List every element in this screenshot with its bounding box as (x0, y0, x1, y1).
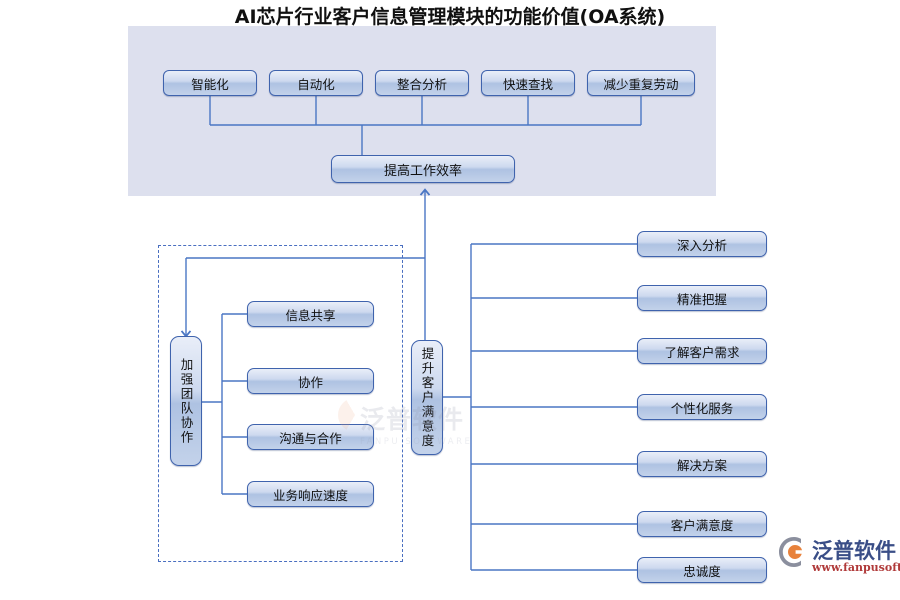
satisfaction-item-1[interactable]: 精准把握 (637, 285, 767, 311)
feature-node-0-label: 智能化 (191, 74, 229, 93)
diagram-canvas: AI芯片行业客户信息管理模块的功能价值(OA系统) (0, 0, 900, 600)
hub-node-teamwork[interactable]: 加强团队协作 (170, 336, 202, 466)
hub-node-satisfaction[interactable]: 提升客户满意度 (411, 340, 443, 455)
satisfaction-item-3-label: 个性化服务 (671, 398, 734, 417)
teamwork-item-3[interactable]: 业务响应速度 (247, 481, 374, 507)
satisfaction-item-5[interactable]: 客户满意度 (637, 511, 767, 537)
fanpu-logo-icon (778, 536, 810, 568)
feature-node-3-label: 快速查找 (503, 74, 553, 93)
satisfaction-item-6-label: 忠诚度 (683, 561, 721, 580)
satisfaction-item-6[interactable]: 忠诚度 (637, 557, 767, 583)
feature-node-0[interactable]: 智能化 (163, 70, 257, 96)
satisfaction-item-0-label: 深入分析 (677, 235, 727, 254)
outcome-node-efficiency-label: 提高工作效率 (384, 160, 462, 179)
satisfaction-item-0[interactable]: 深入分析 (637, 231, 767, 257)
brand-logo-url: www.fanpusoft.com (812, 561, 900, 574)
teamwork-item-1-label: 协作 (298, 372, 323, 391)
teamwork-item-2[interactable]: 沟通与合作 (247, 424, 374, 450)
satisfaction-item-2[interactable]: 了解客户需求 (637, 338, 767, 364)
feature-node-2-label: 整合分析 (397, 74, 447, 93)
feature-node-3[interactable]: 快速查找 (481, 70, 575, 96)
teamwork-item-2-label: 沟通与合作 (279, 428, 342, 447)
feature-node-1[interactable]: 自动化 (269, 70, 363, 96)
feature-node-4-label: 减少重复劳动 (603, 74, 678, 93)
satisfaction-item-5-label: 客户满意度 (671, 515, 734, 534)
feature-node-2[interactable]: 整合分析 (375, 70, 469, 96)
teamwork-item-3-label: 业务响应速度 (273, 485, 348, 504)
feature-node-1-label: 自动化 (297, 74, 335, 93)
hub-node-satisfaction-label: 提升客户满意度 (418, 347, 437, 449)
teamwork-item-1[interactable]: 协作 (247, 368, 374, 394)
satisfaction-item-1-label: 精准把握 (677, 289, 727, 308)
satisfaction-item-3[interactable]: 个性化服务 (637, 394, 767, 420)
feature-node-4[interactable]: 减少重复劳动 (587, 70, 695, 96)
teamwork-item-0-label: 信息共享 (285, 305, 335, 324)
satisfaction-item-2-label: 了解客户需求 (664, 342, 739, 361)
satisfaction-item-4[interactable]: 解决方案 (637, 451, 767, 477)
satisfaction-item-4-label: 解决方案 (677, 455, 727, 474)
teamwork-item-0[interactable]: 信息共享 (247, 301, 374, 327)
brand-logo: 泛普软件 www.fanpusoft.com (778, 535, 898, 581)
hub-node-teamwork-label: 加强团队协作 (177, 358, 196, 445)
outcome-node-efficiency[interactable]: 提高工作效率 (331, 155, 515, 183)
